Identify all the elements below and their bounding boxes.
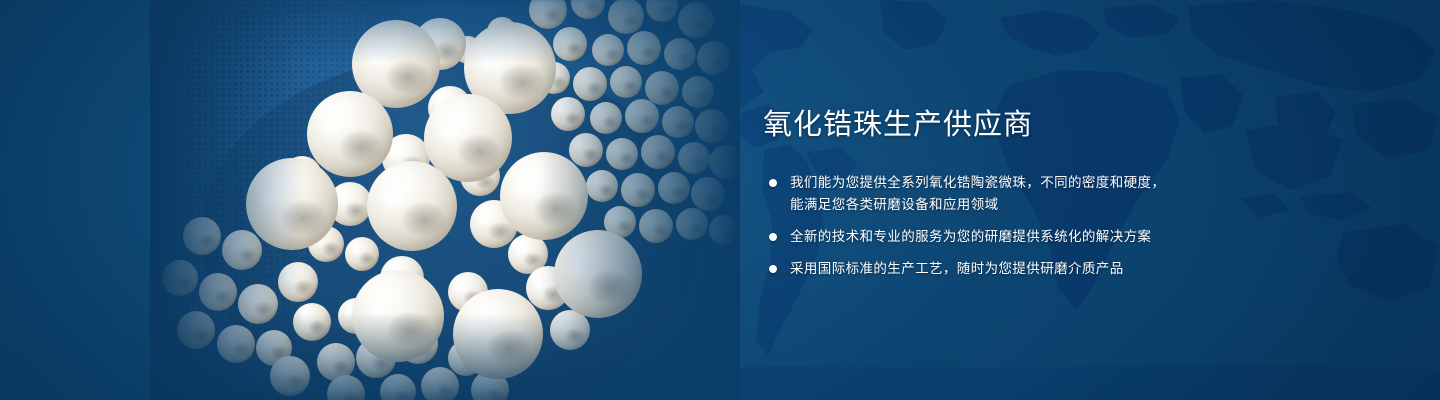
product-photo-zirconia-beads bbox=[150, 0, 740, 400]
banner-headline: 氧化锆珠生产供应商 bbox=[763, 108, 1233, 142]
bullet-line: 我们能为您提供全系列氧化锆陶瓷微珠，不同的密度和硬度， bbox=[790, 172, 1233, 194]
banner-copy: 氧化锆珠生产供应商 我们能为您提供全系列氧化锆陶瓷微珠，不同的密度和硬度， 能满… bbox=[763, 108, 1233, 280]
bullet-dot-icon bbox=[769, 233, 777, 241]
bullet-dot-icon bbox=[769, 179, 777, 187]
bullet-line: 全新的技术和专业的服务为您的研磨提供系统化的解决方案 bbox=[790, 226, 1233, 248]
bullet-line: 采用国际标准的生产工艺，随时为您提供研磨介质产品 bbox=[790, 258, 1233, 280]
feature-bullet-list: 我们能为您提供全系列氧化锆陶瓷微珠，不同的密度和硬度， 能满足您各类研磨设备和应… bbox=[763, 172, 1233, 280]
bullet-dot-icon bbox=[769, 265, 777, 273]
bead-cluster bbox=[150, 0, 740, 400]
feature-bullet-item: 我们能为您提供全系列氧化锆陶瓷微珠，不同的密度和硬度， 能满足您各类研磨设备和应… bbox=[763, 172, 1233, 216]
hero-banner: 氧化锆珠生产供应商 我们能为您提供全系列氧化锆陶瓷微珠，不同的密度和硬度， 能满… bbox=[0, 0, 1440, 400]
bullet-line: 能满足您各类研磨设备和应用领域 bbox=[790, 194, 1233, 216]
feature-bullet-item: 全新的技术和专业的服务为您的研磨提供系统化的解决方案 bbox=[763, 226, 1233, 248]
feature-bullet-item: 采用国际标准的生产工艺，随时为您提供研磨介质产品 bbox=[763, 258, 1233, 280]
